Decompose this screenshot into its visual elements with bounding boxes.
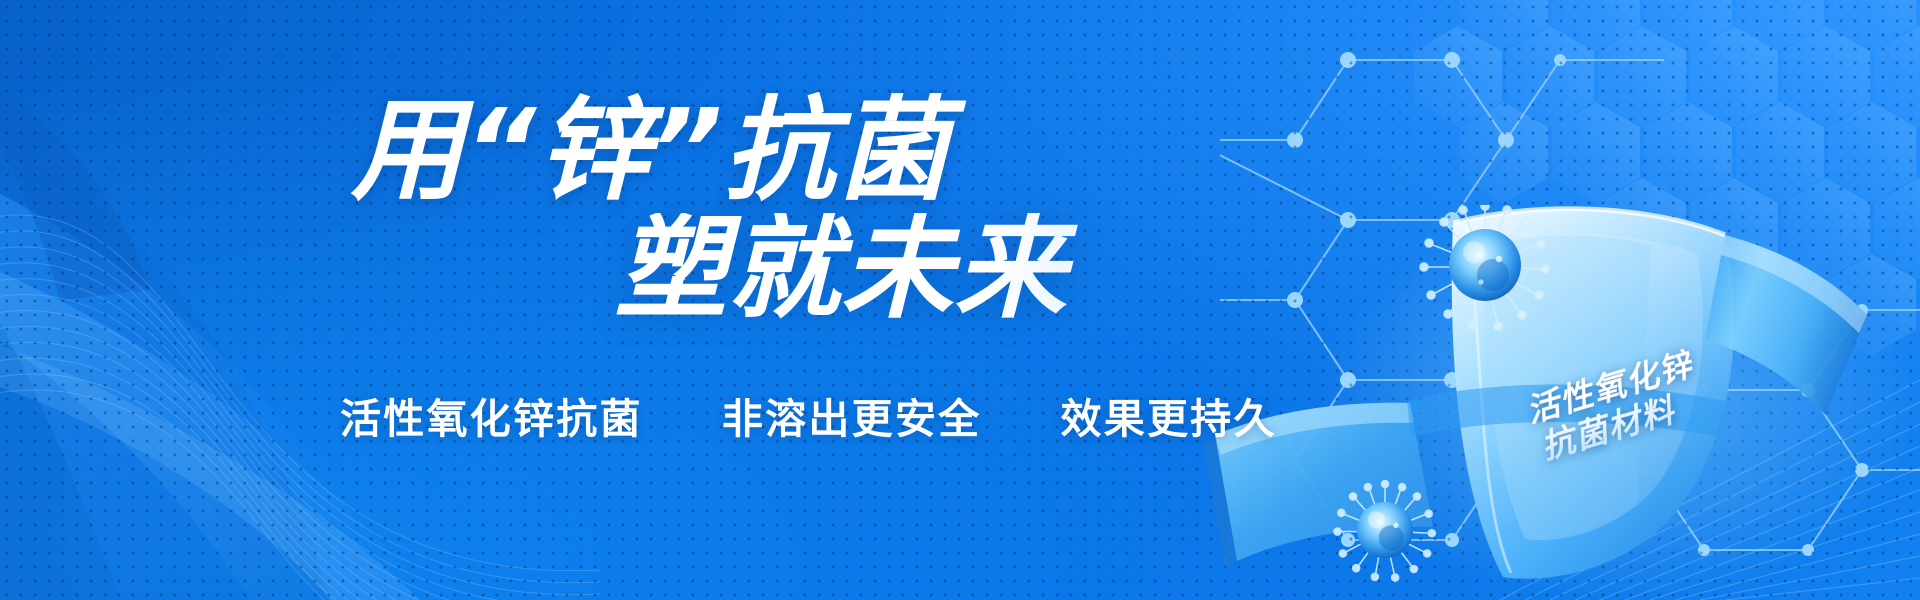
- subtitle-item-2: 非溶出更安全: [722, 395, 982, 443]
- subtitle-item-1: 活性氧化锌抗菌: [340, 395, 643, 443]
- subtitle-row: 活性氧化锌抗菌 非溶出更安全 效果更持久: [340, 385, 1277, 445]
- promo-banner: 活性氧化锌 抗菌材料 用“锌”抗菌 塑就未来 活性氧化锌抗菌 非溶出更安全 效果…: [0, 0, 1920, 600]
- subtitle-item-3: 效果更持久: [1060, 395, 1276, 443]
